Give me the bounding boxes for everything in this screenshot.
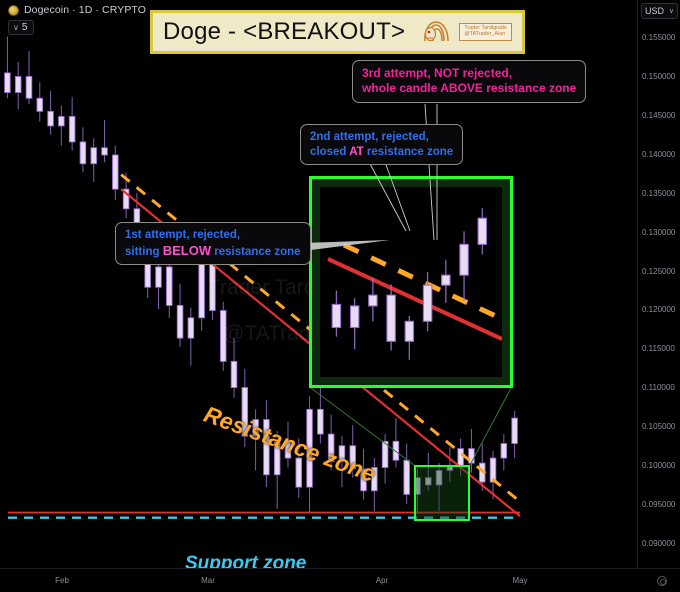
callout-1st-emphasis: BELOW <box>163 243 211 258</box>
price-tick: 0.120000 <box>642 305 675 314</box>
price-tick: 0.100000 <box>642 461 675 470</box>
price-tick: 0.090000 <box>642 539 675 548</box>
chevron-down-icon: ∨ <box>669 7 674 15</box>
time-tick: Mar <box>201 576 215 585</box>
currency-selector[interactable]: USD ∨ <box>641 3 678 19</box>
inset-plot-area <box>320 187 502 377</box>
callout-2nd-attempt: 2nd attempt, rejected, closed AT resista… <box>300 124 463 165</box>
time-tick: Feb <box>55 576 69 585</box>
support-zone-label: Support zone <box>185 553 306 568</box>
callout-3rd-attempt: 3rd attempt, NOT rejected, whole candle … <box>352 60 586 103</box>
callout-2nd-line2: closed AT resistance zone <box>310 145 453 160</box>
price-tick: 0.130000 <box>642 228 675 237</box>
symbol-row[interactable]: Dogecoin · 1D · CRYPTO <box>8 4 146 16</box>
banner-title-text: Doge - <BREAKOUT> <box>163 18 413 46</box>
callout-2nd-text-a: closed <box>310 146 349 158</box>
price-axis[interactable]: USD ∨ 0.1550000.1500000.1450000.1400000.… <box>637 0 680 568</box>
inset-candlestick-svg <box>320 187 502 377</box>
timeframe-value: 5 <box>22 22 28 33</box>
callout-1st-attempt: 1st attempt, rejected, sitting BELOW res… <box>115 222 311 265</box>
price-tick: 0.140000 <box>642 150 675 159</box>
price-tick: 0.155000 <box>642 33 675 42</box>
callout-1st-text-c: resistance zone <box>211 246 300 258</box>
chart-screenshot: Trader Tardigrade @TATrader_Alan Resista… <box>0 0 680 592</box>
callout-1st-line1: 1st attempt, rejected, <box>125 228 301 243</box>
brand-badge: Trader Tardigrade @TATrader_Alan <box>459 23 512 41</box>
callout-1st-line2: sitting BELOW resistance zone <box>125 243 301 260</box>
price-tick: 0.095000 <box>642 500 675 509</box>
symbol-label: Dogecoin · 1D · CRYPTO <box>24 4 146 16</box>
timeframe-dropdown[interactable]: ∨ 5 <box>8 20 34 35</box>
callout-2nd-line1: 2nd attempt, rejected, <box>310 130 453 145</box>
chevron-down-icon: ∨ <box>13 24 19 32</box>
currency-label: USD <box>645 6 664 16</box>
chart-plot-area[interactable]: Trader Tardigrade @TATrader_Alan Resista… <box>0 0 637 568</box>
price-tick: 0.110000 <box>642 383 675 392</box>
time-tick: Apr <box>376 576 388 585</box>
price-tick: 0.105000 <box>642 422 675 431</box>
tardigrade-logo-icon <box>421 17 451 47</box>
breakout-zoom-inset <box>309 176 513 388</box>
doge-coin-icon <box>8 5 19 16</box>
callout-3rd-line1: 3rd attempt, NOT rejected, <box>362 66 576 81</box>
breakout-highlight-box <box>414 465 470 521</box>
price-tick: 0.125000 <box>642 267 675 276</box>
price-tick: 0.150000 <box>642 72 675 81</box>
callout-2nd-emphasis: AT <box>349 146 363 158</box>
time-axis[interactable]: FebMarAprMay <box>0 568 680 592</box>
callout-2nd-text-c: resistance zone <box>364 146 453 158</box>
callout-3rd-line2: whole candle ABOVE resistance zone <box>362 81 576 96</box>
price-tick: 0.135000 <box>642 189 675 198</box>
callout-1st-text-a: sitting <box>125 246 163 258</box>
time-tick: May <box>512 576 527 585</box>
brand-handle: @TATrader_Alan <box>464 32 507 38</box>
price-tick: 0.115000 <box>642 344 675 353</box>
gear-icon[interactable] <box>657 576 667 586</box>
title-banner: Doge - <BREAKOUT> Trader Tardigrade @TAT… <box>150 10 525 54</box>
price-tick: 0.145000 <box>642 111 675 120</box>
